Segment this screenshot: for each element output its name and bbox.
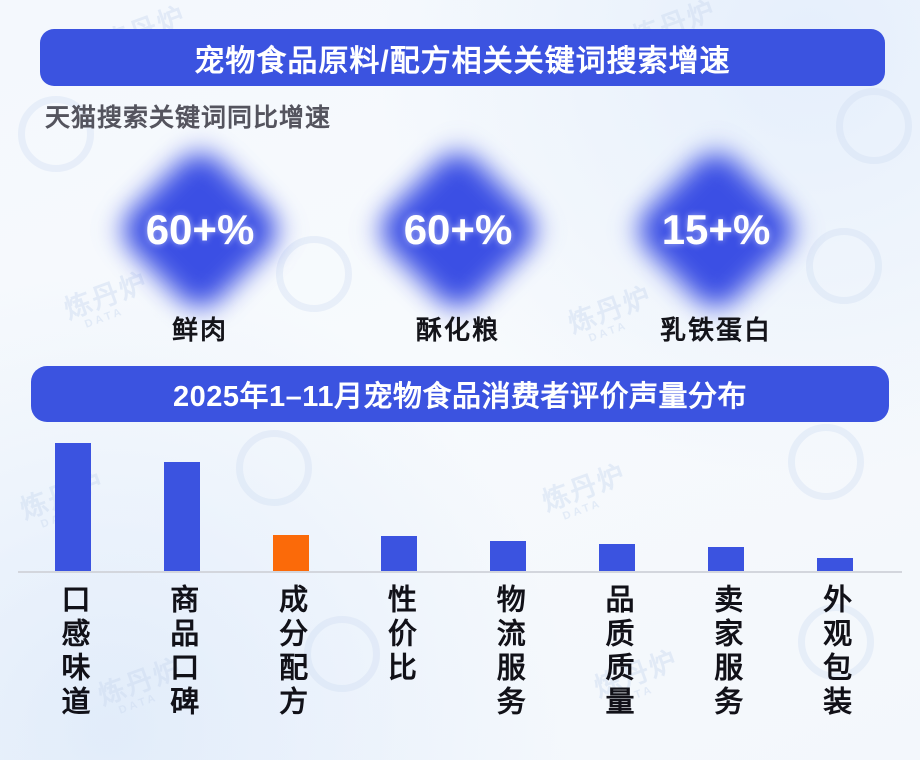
chart-category-labels: 口感味道商品口碑成分配方性价比物流服务品质质量卖家服务外观包装 [0, 584, 920, 760]
main-title-text: 宠物食品原料/配方相关关键词搜索增速 [194, 36, 730, 80]
chart-title-banner: 2025年1–11月宠物食品消费者评价声量分布 [31, 366, 889, 422]
keyword-shape-wrap: 15+% [601, 150, 831, 310]
bar-成分配方[interactable] [273, 535, 309, 572]
category-label-性价比: 性价比 [381, 584, 417, 686]
keyword-label: 鲜肉 [85, 310, 315, 347]
keyword-label: 乳铁蛋白 [601, 310, 831, 347]
keyword-value: 60+% [85, 205, 315, 255]
keyword-metric-card: 60+% 酥化粮 [343, 150, 573, 310]
category-label-外观包装: 外观包装 [817, 584, 853, 720]
chart-plot-area [0, 432, 920, 572]
bar-物流服务[interactable] [490, 541, 526, 572]
category-label-物流服务: 物流服务 [490, 584, 526, 720]
bar-卖家服务[interactable] [708, 547, 744, 572]
bar-商品口碑[interactable] [164, 462, 200, 572]
bar-口感味道[interactable] [55, 443, 91, 572]
chart-baseline-axis [18, 571, 902, 573]
keyword-value: 60+% [343, 205, 573, 255]
keyword-shape-wrap: 60+% [343, 150, 573, 310]
category-label-成分配方: 成分配方 [273, 584, 309, 720]
keyword-metric-card: 60+% 鲜肉 [85, 150, 315, 310]
keyword-metrics-row: 60+% 鲜肉 60+% 酥化粮 15+% 乳铁蛋白 [0, 150, 920, 350]
category-label-卖家服务: 卖家服务 [708, 584, 744, 720]
infographic-page: 炼丹炉 DATA 炼丹炉 DATA 炼丹炉 DATA 炼丹炉 DATA 炼丹炉 … [0, 0, 920, 760]
chart-title-text: 2025年1–11月宠物食品消费者评价声量分布 [173, 373, 747, 415]
subtitle-text: 天猫搜索关键词同比增速 [45, 98, 331, 134]
bar-品质质量[interactable] [599, 544, 635, 572]
keyword-metric-card: 15+% 乳铁蛋白 [601, 150, 831, 310]
category-label-商品口碑: 商品口碑 [164, 584, 200, 720]
keyword-shape-wrap: 60+% [85, 150, 315, 310]
bar-chart: 口感味道商品口碑成分配方性价比物流服务品质质量卖家服务外观包装 [0, 432, 920, 760]
category-label-口感味道: 口感味道 [55, 584, 91, 720]
keyword-value: 15+% [601, 205, 831, 255]
category-label-品质质量: 品质质量 [599, 584, 635, 720]
bar-外观包装[interactable] [817, 558, 853, 572]
keyword-label: 酥化粮 [343, 310, 573, 347]
bar-性价比[interactable] [381, 536, 417, 572]
main-title-banner: 宠物食品原料/配方相关关键词搜索增速 [40, 29, 885, 86]
